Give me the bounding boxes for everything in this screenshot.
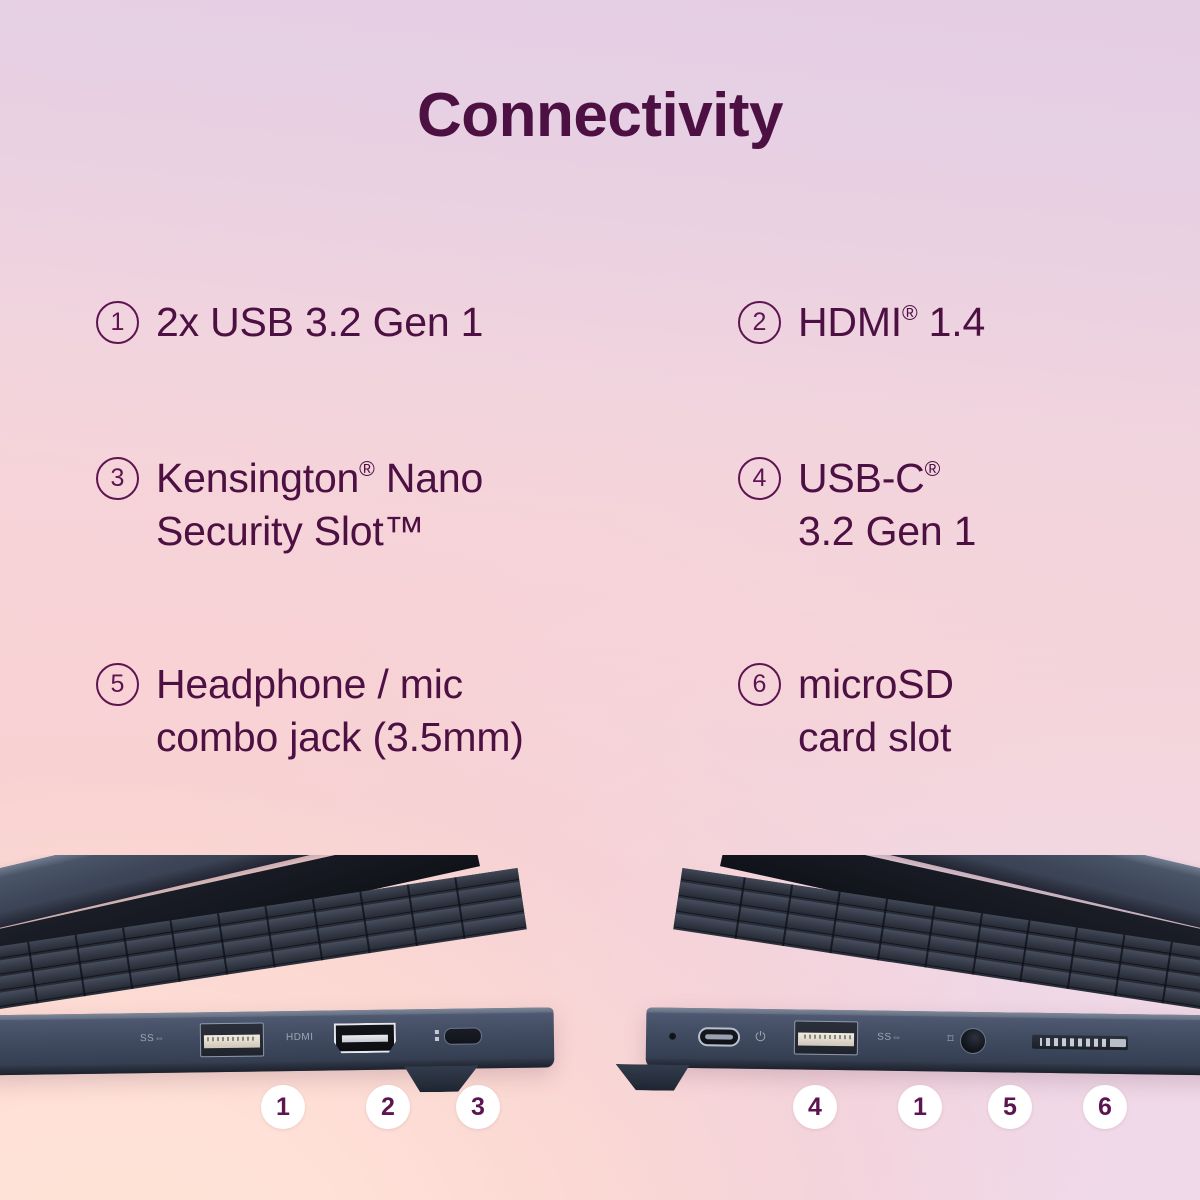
badge-hdmi: 2	[366, 1085, 410, 1129]
badge-usb-c: 4	[793, 1085, 837, 1129]
port-number-badges: 1 2 3 4 1 5 6	[0, 0, 1200, 1200]
badge-usb-a-right: 1	[898, 1085, 942, 1129]
badge-usb-a-left: 1	[261, 1085, 305, 1129]
badge-microsd: 6	[1083, 1085, 1127, 1129]
badge-kensington: 3	[456, 1085, 500, 1129]
badge-headphone-jack: 5	[988, 1085, 1032, 1129]
